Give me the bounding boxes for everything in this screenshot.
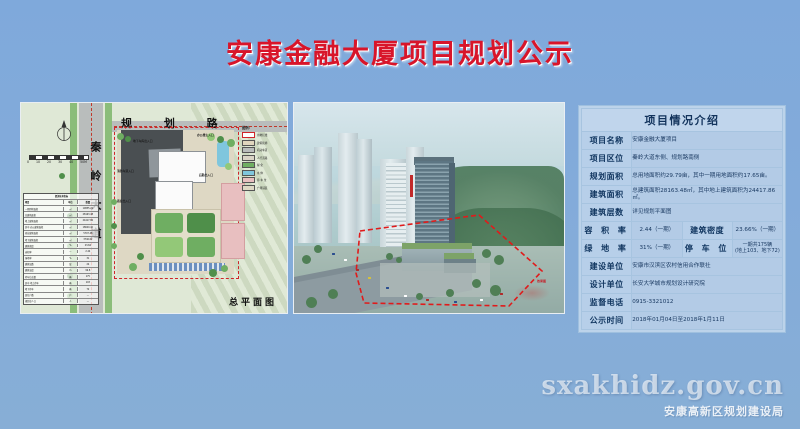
row-label-parking: 停 车 位 — [682, 240, 732, 258]
site-plan-legend: 图例： 用地红线 建筑轮廓 机动车道 人行道路 绿 化 水 体 停 车 位 广场… — [242, 125, 284, 192]
row-label-designer: 设计单位 — [582, 276, 632, 294]
entrance-label: 商业出入口 — [117, 199, 131, 203]
table-row: 容 积 率 2.44（一期） 建筑密度 23.66%（一期） — [582, 222, 783, 240]
legend-item: 人行道路 — [257, 156, 267, 160]
legend-item: 绿 化 — [257, 163, 263, 167]
table-row: 设计单位 长安大学城市规划设计研究院 — [582, 276, 783, 294]
row-label-publicity-period: 公示时间 — [582, 312, 632, 330]
legend-item: 水 体 — [257, 171, 263, 175]
index-table-title: 经济技术指标 — [24, 194, 98, 198]
site-plan-caption: 总平面图 — [229, 295, 277, 308]
scale-tick: 0 — [27, 160, 29, 164]
table-row: 项目区位 秦岭大道东侧、规划路南侧 — [582, 150, 783, 168]
legend-item: 广场铺装 — [257, 186, 267, 190]
row-value-parking: 一期共175辆 (地上103、地下72) — [732, 240, 782, 258]
poster-canvas: 安康金融大厦项目规划公示 规 划 路 秦 岭 大 道 — [0, 0, 800, 429]
scale-tick: 10 — [36, 160, 40, 164]
table-row: 建筑面积 总建筑面积28163.48㎡，其中地上建筑面积为24417.86㎡。 — [582, 186, 783, 204]
watermark-domain: sxakhidz.gov.cn — [541, 371, 784, 401]
row-label-supervision-phone: 监督电话 — [582, 294, 632, 312]
site-plan-image: 规 划 路 秦 岭 大 道 — [20, 102, 288, 314]
table-row: 绿 地 率 31%（一期） 停 车 位 一期共175辆 (地上103、地下72) — [582, 240, 783, 258]
row-label-project-name: 项目名称 — [582, 132, 632, 150]
index-col-header: 单位 — [64, 200, 78, 204]
scale-tick: 40 — [69, 160, 73, 164]
index-col-header: 数量 — [78, 200, 98, 204]
row-label-building-density: 建筑密度 — [682, 222, 732, 240]
row-value-project-name: 安康金融大厦项目 — [632, 132, 783, 150]
entrance-label: 后勤出入口 — [199, 173, 213, 177]
table-row: 建设单位 安康市汉滨区农村信用合作联社 — [582, 258, 783, 276]
scale-bar: 0 10 20 30 40 50M — [29, 155, 89, 164]
row-value-designer: 长安大学城市规划设计研究院 — [632, 276, 783, 294]
table-row: 监督电话 0915-3321012 — [582, 294, 783, 312]
row-label-far: 容 积 率 — [582, 222, 632, 240]
north-arrow-icon — [55, 119, 73, 145]
entrance-label: 办公楼主入口 — [197, 133, 214, 137]
economic-index-table: 经济技术指标 项目 单位 数量 一期用地面积㎡19855.21 总建筑面积㎡28… — [23, 193, 99, 305]
entrance-label: 消防车道入口 — [117, 169, 134, 173]
index-table-row: 规划总人口人— — [24, 299, 98, 304]
row-label-floors: 建筑层数 — [582, 204, 632, 222]
row-value-building-density: 23.66%（一期） — [732, 222, 782, 240]
scale-tick: 30 — [58, 160, 62, 164]
legend-item: 建筑轮廓 — [257, 141, 267, 145]
table-row: 规划面积 总用地面积约29.79亩，其中一期用地面积约17.65亩。 — [582, 168, 783, 186]
row-value-supervision-phone: 0915-3321012 — [632, 294, 783, 312]
row-value-floors: 详见规划平面图 — [632, 204, 783, 222]
legend-item: 停 车 位 — [257, 178, 266, 182]
row-label-location: 项目区位 — [582, 150, 632, 168]
parking-breakdown: (地上103、地下72) — [733, 249, 782, 255]
row-value-location: 秦岭大道东侧、规划路南侧 — [632, 150, 783, 168]
watermark-agency: 安康高新区规划建设局 — [664, 403, 784, 419]
row-value-green-ratio: 31%（一期） — [632, 240, 682, 258]
table-header-row: 项目情况介绍 — [582, 109, 783, 132]
entrance-label: 地下车库出入口 — [133, 139, 153, 143]
row-label-plan-area: 规划面积 — [582, 168, 632, 186]
row-label-building-area: 建筑面积 — [582, 186, 632, 204]
page-title: 安康金融大厦项目规划公示 — [0, 32, 800, 71]
row-value-developer: 安康市汉滨区农村信用合作联社 — [632, 258, 783, 276]
scale-tick: 50M — [80, 160, 87, 164]
row-value-plan-area: 总用地面积约29.79亩，其中一期用地面积约17.65亩。 — [632, 168, 783, 186]
table-row: 公示时间 2018年01月04日至2018年1月11日 — [582, 312, 783, 330]
table-row: 项目名称 安康金融大厦项目 — [582, 132, 783, 150]
row-value-building-area: 总建筑面积28163.48㎡，其中地上建筑面积为24417.86㎡。 — [632, 186, 783, 204]
project-info-table: 项目情况介绍 项目名称 安康金融大厦项目 项目区位 秦岭大道东侧、规划路南侧 规… — [578, 105, 786, 333]
aerial-rendering-image: 效果图 — [293, 102, 565, 314]
scale-tick: 20 — [47, 160, 51, 164]
row-label-developer: 建设单位 — [582, 258, 632, 276]
legend-title: 图例： — [242, 125, 284, 130]
row-label-green-ratio: 绿 地 率 — [582, 240, 632, 258]
index-col-header: 项目 — [24, 200, 64, 204]
row-value-publicity-period: 2018年01月04日至2018年1月11日 — [632, 312, 783, 330]
legend-item: 机动车道 — [257, 148, 267, 152]
table-row: 建筑层数 详见规划平面图 — [582, 204, 783, 222]
legend-item: 用地红线 — [257, 133, 267, 137]
row-value-far: 2.44（一期） — [632, 222, 682, 240]
info-table-title: 项目情况介绍 — [582, 109, 783, 132]
